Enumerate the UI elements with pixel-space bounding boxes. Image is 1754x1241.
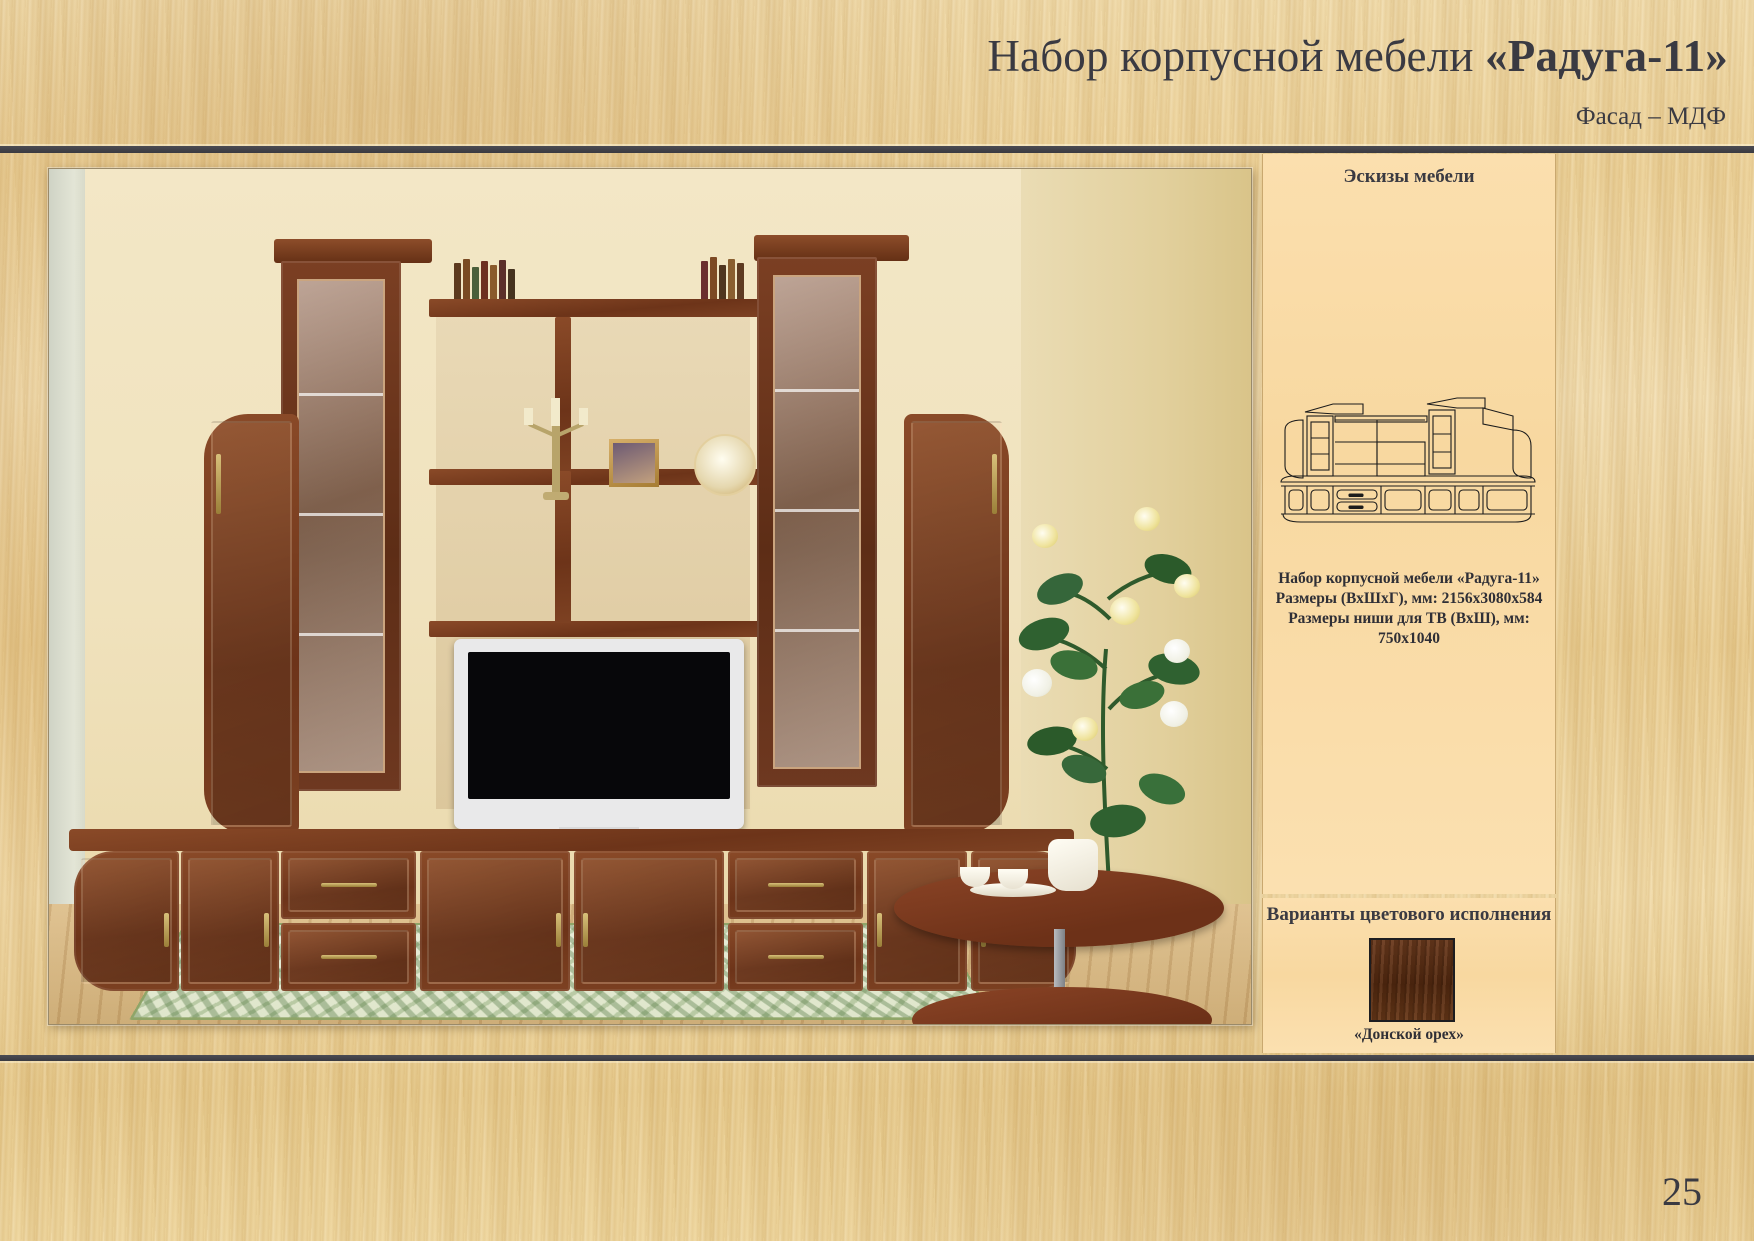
base-drawer-left-bottom (281, 923, 416, 991)
sidebar-colors-title: Варианты цветового исполнения (1263, 904, 1555, 926)
shelf-top (429, 299, 759, 317)
page-title-prefix: Набор корпусной мебели (987, 31, 1485, 81)
base-cabinet-left (181, 851, 279, 991)
vitrine-right (757, 257, 877, 787)
base-drawer-right-bottom (728, 923, 863, 991)
page-number: 25 (1662, 1168, 1702, 1215)
page-title: Набор корпусной мебели «Радуга-11» (987, 30, 1728, 82)
base-cabinet-far-left (74, 851, 179, 991)
decorative-plate (694, 434, 756, 496)
header-rule (0, 146, 1754, 153)
product-photo (48, 168, 1252, 1025)
cabinet-round-right (904, 414, 1009, 834)
teapot (1048, 839, 1098, 891)
page-subtitle: Фасад – МДФ (1576, 103, 1726, 131)
page-header: Набор корпусной мебели «Радуга-11» Фасад… (0, 0, 1754, 146)
base-cabinet-center-left (420, 851, 570, 991)
vitrine-left (281, 261, 401, 791)
base-drawer-left-top (281, 851, 416, 919)
vitrine-right-glass (773, 275, 861, 769)
furniture-sketch-drawing (1277, 394, 1541, 544)
spec-line-2: Размеры (ВхШхГ), мм: 2156х3080х584 (1273, 589, 1545, 609)
vitrine-left-glass (297, 279, 385, 773)
footer-rule-highlight (0, 1061, 1754, 1063)
rose-plant (1014, 469, 1209, 889)
coffee-table (894, 869, 1224, 1025)
shelf-lower (429, 621, 759, 637)
tea-set (954, 857, 1104, 903)
coffee-table-lower-shelf (912, 987, 1212, 1025)
sidebar-sketches-panel: Эскизы мебели (1262, 154, 1556, 894)
furniture-specs: Набор корпусной мебели «Радуга-11» Разме… (1273, 569, 1545, 650)
page-title-model: «Радуга-11» (1485, 31, 1728, 81)
spec-line-1: Набор корпусной мебели «Радуга-11» (1273, 569, 1545, 589)
color-swatch-label: «Донской орех» (1263, 1026, 1555, 1044)
base-top-board (69, 829, 1074, 851)
candelabra (521, 384, 591, 504)
cornice-left (274, 239, 432, 263)
picture-frame (609, 439, 659, 487)
color-swatch[interactable] (1369, 938, 1455, 1022)
tv-screen (468, 652, 730, 799)
sidebar-sketches-title: Эскизы мебели (1263, 166, 1555, 188)
spec-line-3: Размеры ниши для ТВ (ВхШ), мм: (1273, 609, 1545, 629)
spec-line-4: 750х1040 (1273, 629, 1545, 649)
television (454, 639, 744, 829)
cabinet-round-left (204, 414, 299, 834)
base-drawer-right-top (728, 851, 863, 919)
sidebar-colors-panel: Варианты цветового исполнения «Донской о… (1262, 898, 1556, 1053)
base-cabinet-center-right (574, 851, 724, 991)
